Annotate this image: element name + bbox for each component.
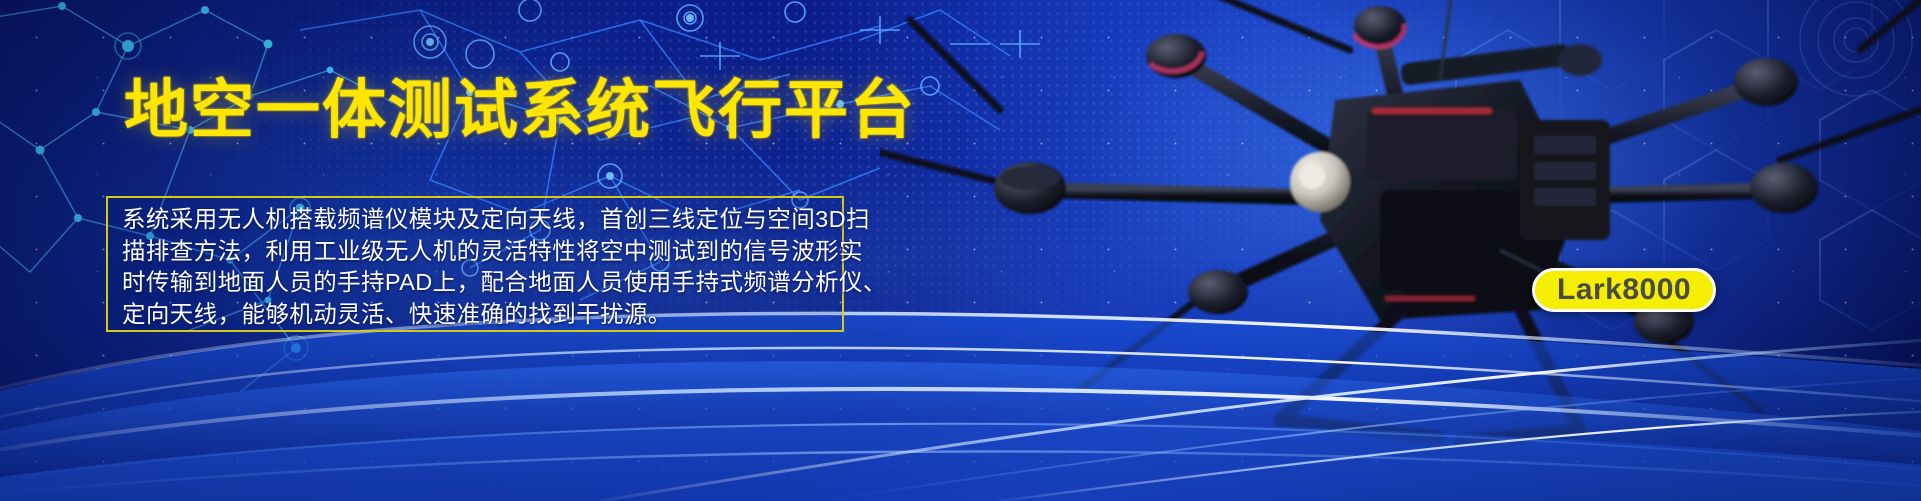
product-model-label: Lark8000 [1557, 275, 1691, 305]
description-line: 描排查方法，利用工业级无人机的灵活特性将空中测试到的信号波形实 [122, 236, 828, 268]
description-line: 系统采用无人机搭载频谱仪模块及定向天线，首创三线定位与空间3D扫 [122, 204, 828, 236]
description-line: 时传输到地面人员的手持PAD上，配合地面人员使用手持式频谱分析仪、 [122, 267, 828, 299]
page-title: 地空一体测试系统飞行平台 [124, 78, 916, 142]
promo-banner: 地空一体测试系统飞行平台 系统采用无人机搭载频谱仪模块及定向天线，首创三线定位与… [0, 0, 1921, 501]
description-box: 系统采用无人机搭载频谱仪模块及定向天线，首创三线定位与空间3D扫 描排查方法，利… [106, 196, 844, 332]
product-model-badge: Lark8000 [1532, 268, 1716, 312]
description-line: 定向天线，能够机动灵活、快速准确的找到干扰源。 [122, 299, 828, 331]
